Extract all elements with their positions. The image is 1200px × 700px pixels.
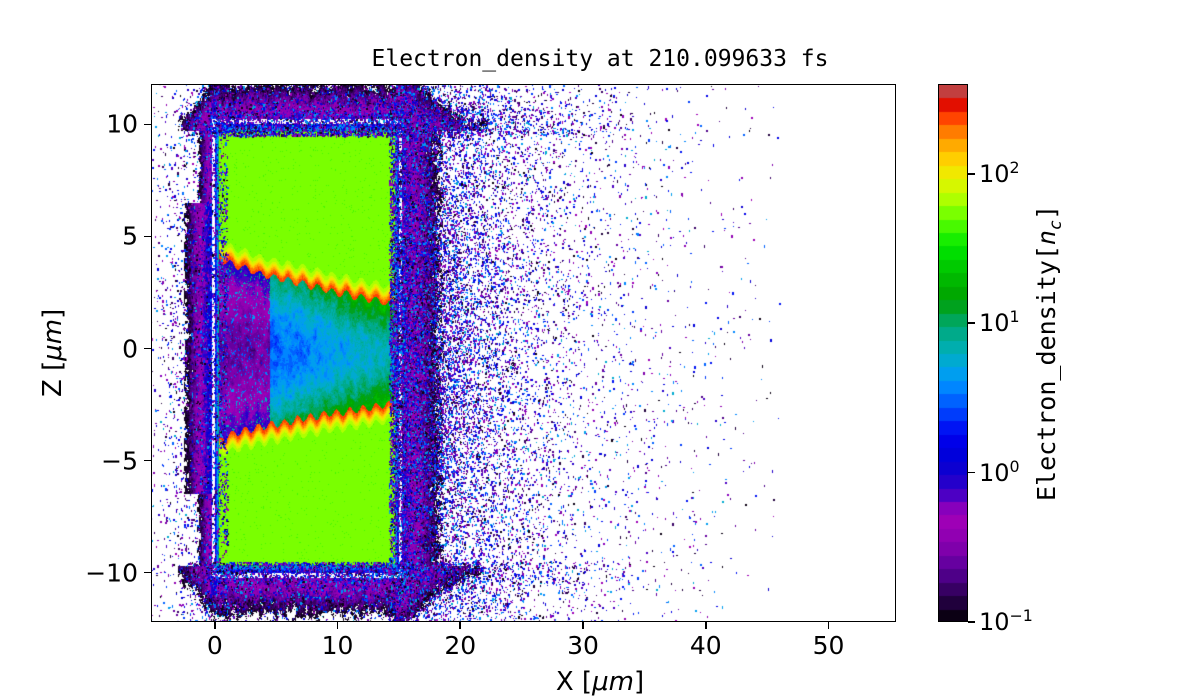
z-tick-label: 10 — [106, 112, 138, 137]
z-tick-mark — [144, 124, 151, 126]
z-tick-label: −5 — [101, 448, 138, 473]
x-tick-mark — [828, 622, 830, 629]
colorbar-tick-label: 10−1 — [979, 610, 1033, 634]
x-tick-mark — [459, 622, 461, 629]
colorbar-tick-mark — [968, 173, 975, 175]
x-axis-label-text: X [μm] — [556, 667, 644, 697]
colorbar-tick-mark — [968, 621, 975, 623]
x-tick-label: 0 — [207, 633, 223, 658]
figure-canvas: Electron_density at 210.099633 fs 010203… — [0, 0, 1200, 700]
x-axis-label: X [μm] — [0, 669, 1200, 695]
z-tick-label: 0 — [122, 336, 138, 361]
z-tick-mark — [144, 460, 151, 462]
axes-frame — [151, 84, 896, 622]
x-tick-label: 10 — [322, 633, 354, 658]
z-tick-mark — [144, 236, 151, 238]
colorbar-label-text: Electron_density[nc] — [1032, 205, 1061, 501]
z-tick-label: −10 — [85, 560, 138, 585]
z-axis-label: Z [μm] — [40, 309, 66, 397]
z-tick-mark — [144, 572, 151, 574]
x-tick-label: 20 — [444, 633, 476, 658]
x-tick-mark — [582, 622, 584, 629]
x-tick-mark — [705, 622, 707, 629]
x-tick-label: 40 — [690, 633, 722, 658]
colorbar-tick-label: 102 — [979, 162, 1020, 186]
x-tick-mark — [337, 622, 339, 629]
colorbar-tick-label: 100 — [979, 461, 1020, 485]
colorbar-tick-mark — [968, 472, 975, 474]
x-tick-mark — [214, 622, 216, 629]
z-tick-mark — [144, 348, 151, 350]
z-axis-label-text: Z [μm] — [38, 309, 68, 397]
colorbar-outline — [938, 84, 968, 622]
colorbar-label: Electron_density[nc] — [1034, 205, 1059, 501]
x-tick-label: 30 — [567, 633, 599, 658]
plot-title: Electron_density at 210.099633 fs — [0, 46, 1200, 72]
colorbar-tick-label: 101 — [979, 311, 1020, 335]
x-tick-label: 50 — [813, 633, 845, 658]
z-tick-label: 5 — [122, 224, 138, 249]
colorbar-tick-mark — [968, 322, 975, 324]
